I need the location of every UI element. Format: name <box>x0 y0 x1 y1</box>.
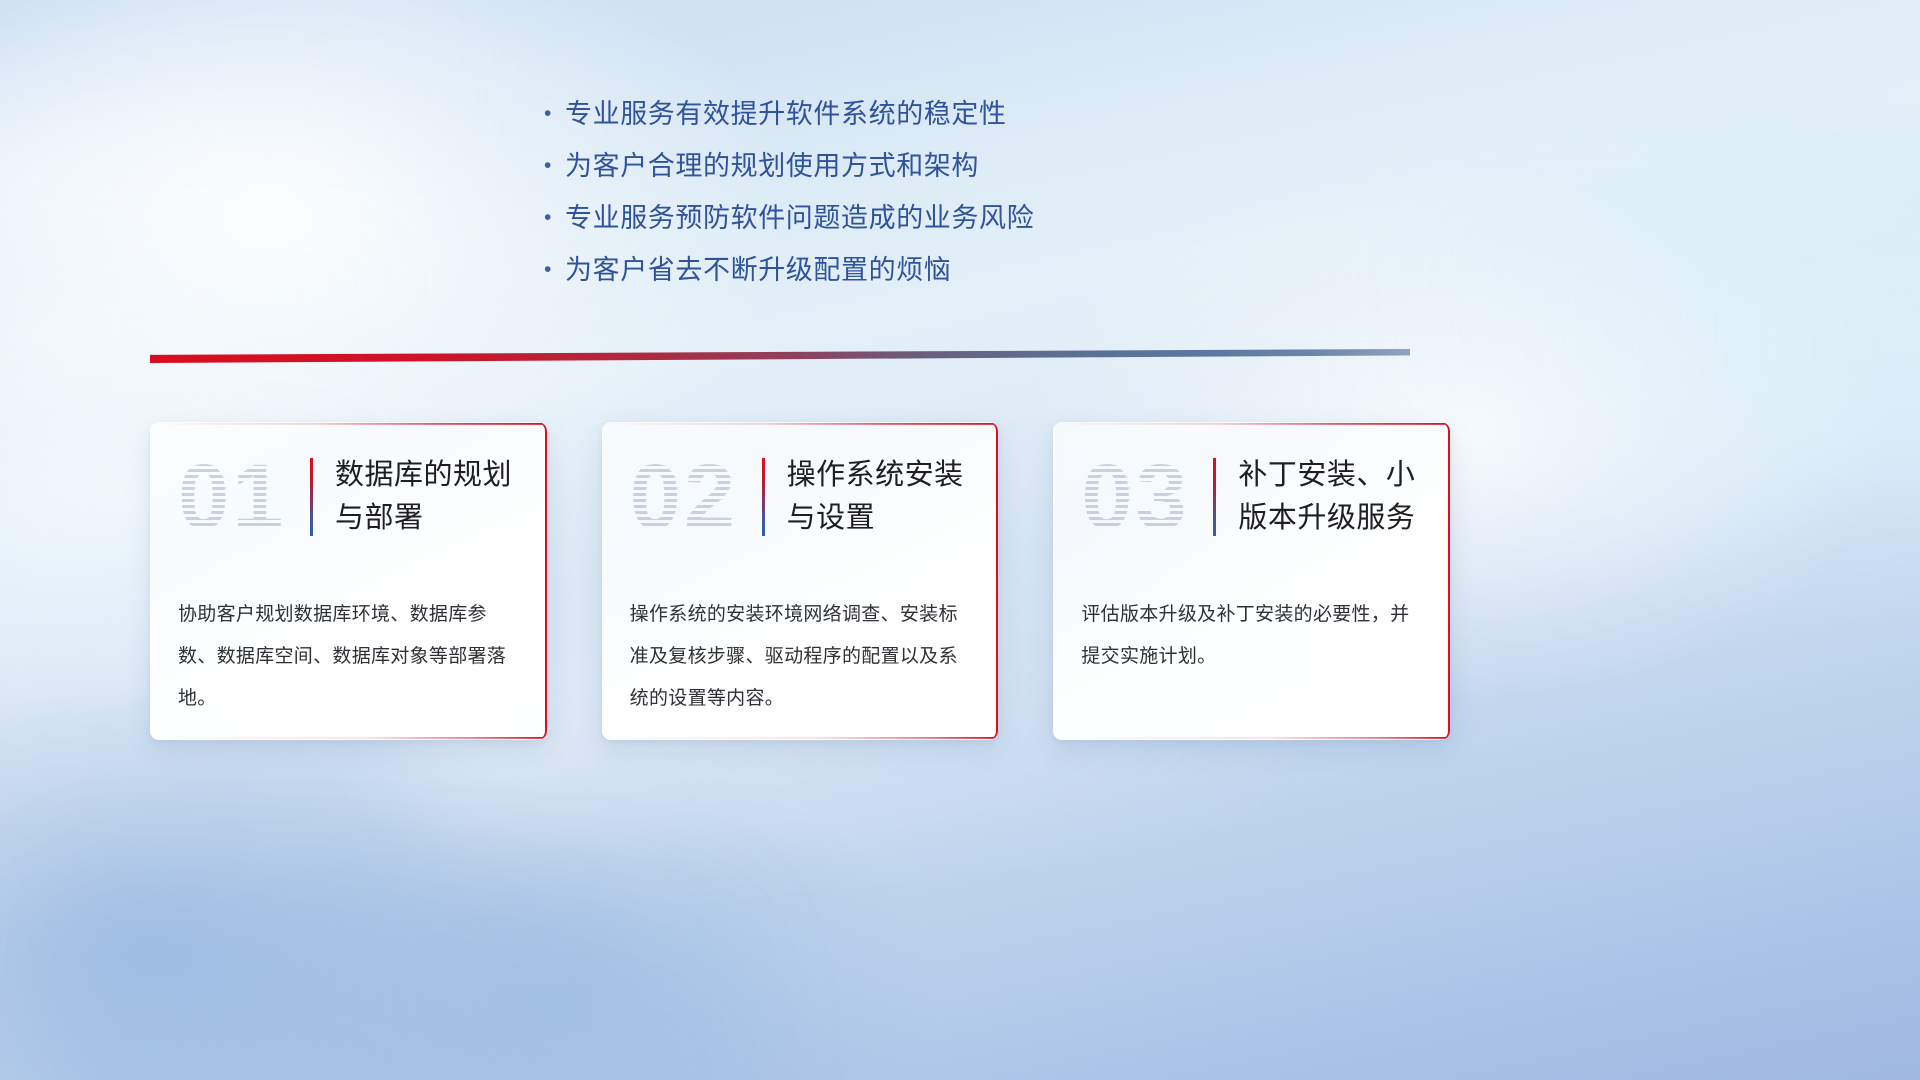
section-divider <box>150 349 1410 363</box>
card-header: 01 数据库的规划 与部署 <box>150 422 547 572</box>
list-item: • 专业服务有效提升软件系统的稳定性 <box>535 88 1255 140</box>
card-title: 数据库的规划 与部署 <box>335 454 512 540</box>
card-title: 补丁安装、小 版本升级服务 <box>1238 454 1415 540</box>
bullet-text: 为客户合理的规划使用方式和架构 <box>565 140 979 192</box>
light-streak-decoration <box>60 860 760 1080</box>
card-title: 操作系统安装 与设置 <box>787 454 964 540</box>
bullet-text: 为客户省去不断升级配置的烦恼 <box>565 244 951 296</box>
card-body-text: 操作系统的安装环境网络调查、安装标准及复核步骤、驱动程序的配置以及系统的设置等内… <box>602 572 999 720</box>
card-body-text: 协助客户规划数据库环境、数据库参数、数据库空间、数据库对象等部署落地。 <box>150 572 547 720</box>
service-card-01[interactable]: 01 数据库的规划 与部署 协助客户规划数据库环境、数据库参数、数据库空间、数据… <box>150 422 547 740</box>
service-card-02[interactable]: 02 操作系统安装 与设置 操作系统的安装环境网络调查、安装标准及复核步骤、驱动… <box>602 422 999 740</box>
benefits-bullet-list: • 专业服务有效提升软件系统的稳定性 • 为客户合理的规划使用方式和架构 • 专… <box>535 88 1255 296</box>
list-item: • 为客户合理的规划使用方式和架构 <box>535 140 1255 192</box>
list-item: • 专业服务预防软件问题造成的业务风险 <box>535 192 1255 244</box>
light-streak-decoration <box>0 0 510 276</box>
divider-bar <box>150 349 1410 363</box>
card-header: 03 补丁安装、小 版本升级服务 <box>1053 422 1450 572</box>
bullet-dot-icon: • <box>535 88 565 140</box>
bullet-dot-icon: • <box>535 140 565 192</box>
card-number-watermark: 01 <box>178 445 310 549</box>
list-item: • 为客户省去不断升级配置的烦恼 <box>535 244 1255 296</box>
card-header: 02 操作系统安装 与设置 <box>602 422 999 572</box>
card-divider-rule <box>310 458 313 536</box>
service-card-row: 01 数据库的规划 与部署 协助客户规划数据库环境、数据库参数、数据库空间、数据… <box>150 422 1450 742</box>
card-number-watermark: 03 <box>1081 445 1213 549</box>
bullet-dot-icon: • <box>535 244 565 296</box>
slide-canvas: • 专业服务有效提升软件系统的稳定性 • 为客户合理的规划使用方式和架构 • 专… <box>0 0 1920 1080</box>
service-card-03[interactable]: 03 补丁安装、小 版本升级服务 评估版本升级及补丁安装的必要性，并提交实施计划… <box>1053 422 1450 740</box>
card-body-text: 评估版本升级及补丁安装的必要性，并提交实施计划。 <box>1053 572 1450 678</box>
bullet-dot-icon: • <box>535 192 565 244</box>
card-number-watermark: 02 <box>630 445 762 549</box>
light-streak-decoration <box>0 213 446 407</box>
card-divider-rule <box>1213 458 1216 536</box>
card-divider-rule <box>762 458 765 536</box>
bullet-text: 专业服务预防软件问题造成的业务风险 <box>565 192 1034 244</box>
bullet-text: 专业服务有效提升软件系统的稳定性 <box>565 88 1007 140</box>
